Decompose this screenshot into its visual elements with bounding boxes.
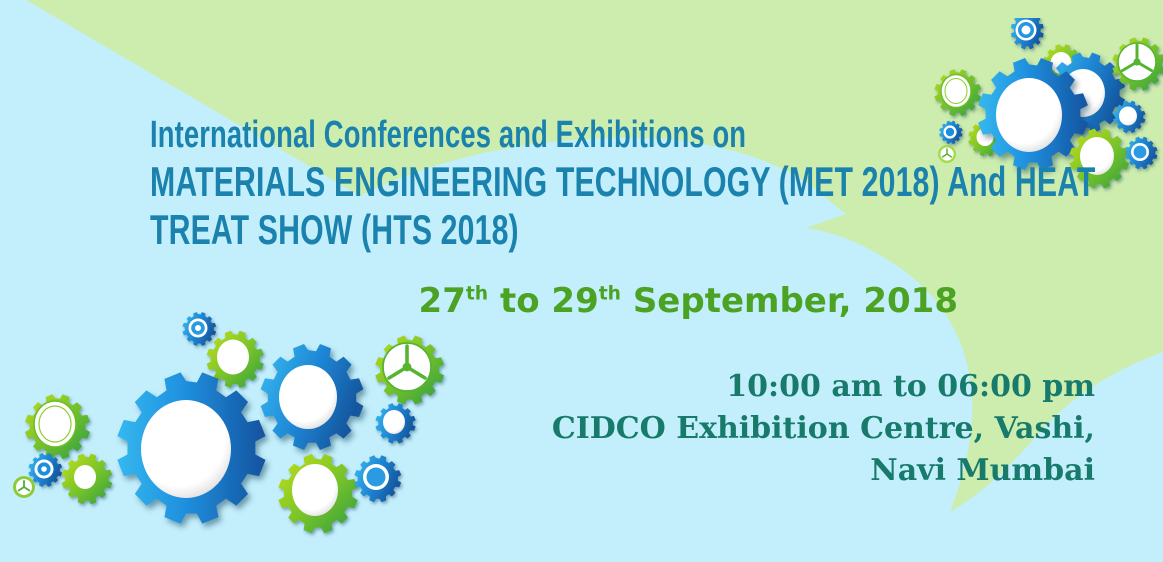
title-line-3: TREAT SHOW (HTS 2018) (150, 206, 740, 254)
date-day-end: 29 (551, 281, 598, 321)
event-banner: International Conferences and Exhibition… (0, 0, 1163, 562)
title-line-1: International Conferences and Exhibition… (150, 112, 740, 158)
title-line-2: MATERIALS ENGINEERING TECHNOLOGY (MET 20… (150, 158, 740, 206)
event-venue: 10:00 am to 06:00 pm CIDCO Exhibition Ce… (0, 366, 1095, 492)
page-title: International Conferences and Exhibition… (150, 112, 970, 254)
venue-timing: 10:00 am to 06:00 pm (0, 366, 1095, 408)
date-month-year: September, 2018 (621, 281, 958, 321)
gear-icon-small-blue-a (1011, 18, 1044, 49)
event-date-text: 27th to 29th September, 2018 (0, 281, 958, 321)
date-day-start: 27 (419, 281, 466, 321)
gear-icon-small-blue-c (1125, 137, 1158, 170)
venue-place: CIDCO Exhibition Centre, Vashi, (0, 408, 1095, 450)
event-date: 27th to 29th September, 2018 (0, 281, 958, 321)
venue-city: Navi Mumbai (0, 450, 1095, 492)
date-connector: to (488, 281, 551, 321)
date-day-end-suffix: th (599, 284, 621, 305)
gear-icon-green-ring-left (934, 69, 981, 116)
date-day-start-suffix: th (466, 284, 488, 305)
